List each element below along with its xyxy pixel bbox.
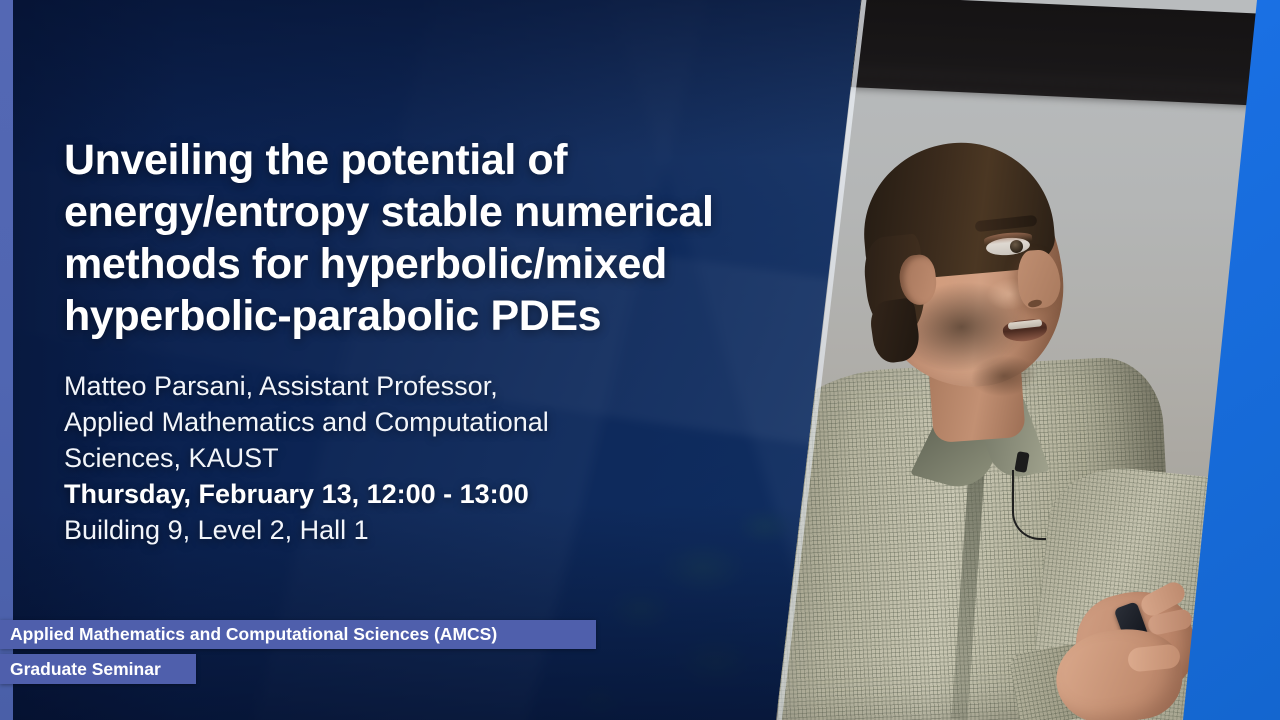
series-banner-label: Graduate Seminar <box>10 659 161 680</box>
department-banner: Applied Mathematics and Computational Sc… <box>0 620 596 649</box>
chin-shadow <box>958 346 1050 405</box>
seminar-details: Matteo Parsani, Assistant Professor, App… <box>64 368 704 548</box>
series-banner: Graduate Seminar <box>0 654 196 684</box>
speaker-name-title: Matteo Parsani, Assistant Professor, <box>64 368 704 404</box>
seminar-title: Unveiling the potential of energy/entrop… <box>64 134 780 342</box>
seminar-datetime: Thursday, February 13, 12:00 - 13:00 <box>64 476 704 512</box>
slide-text-content: Unveiling the potential of energy/entrop… <box>64 0 824 720</box>
left-accent-strip <box>0 0 13 720</box>
affiliation-line-2: Sciences, KAUST <box>64 440 704 476</box>
seminar-location: Building 9, Level 2, Hall 1 <box>64 512 704 548</box>
seminar-announcement-slide: Unveiling the potential of energy/entrop… <box>0 0 1280 720</box>
department-banner-label: Applied Mathematics and Computational Sc… <box>10 624 497 645</box>
affiliation-line-1: Applied Mathematics and Computational <box>64 404 704 440</box>
